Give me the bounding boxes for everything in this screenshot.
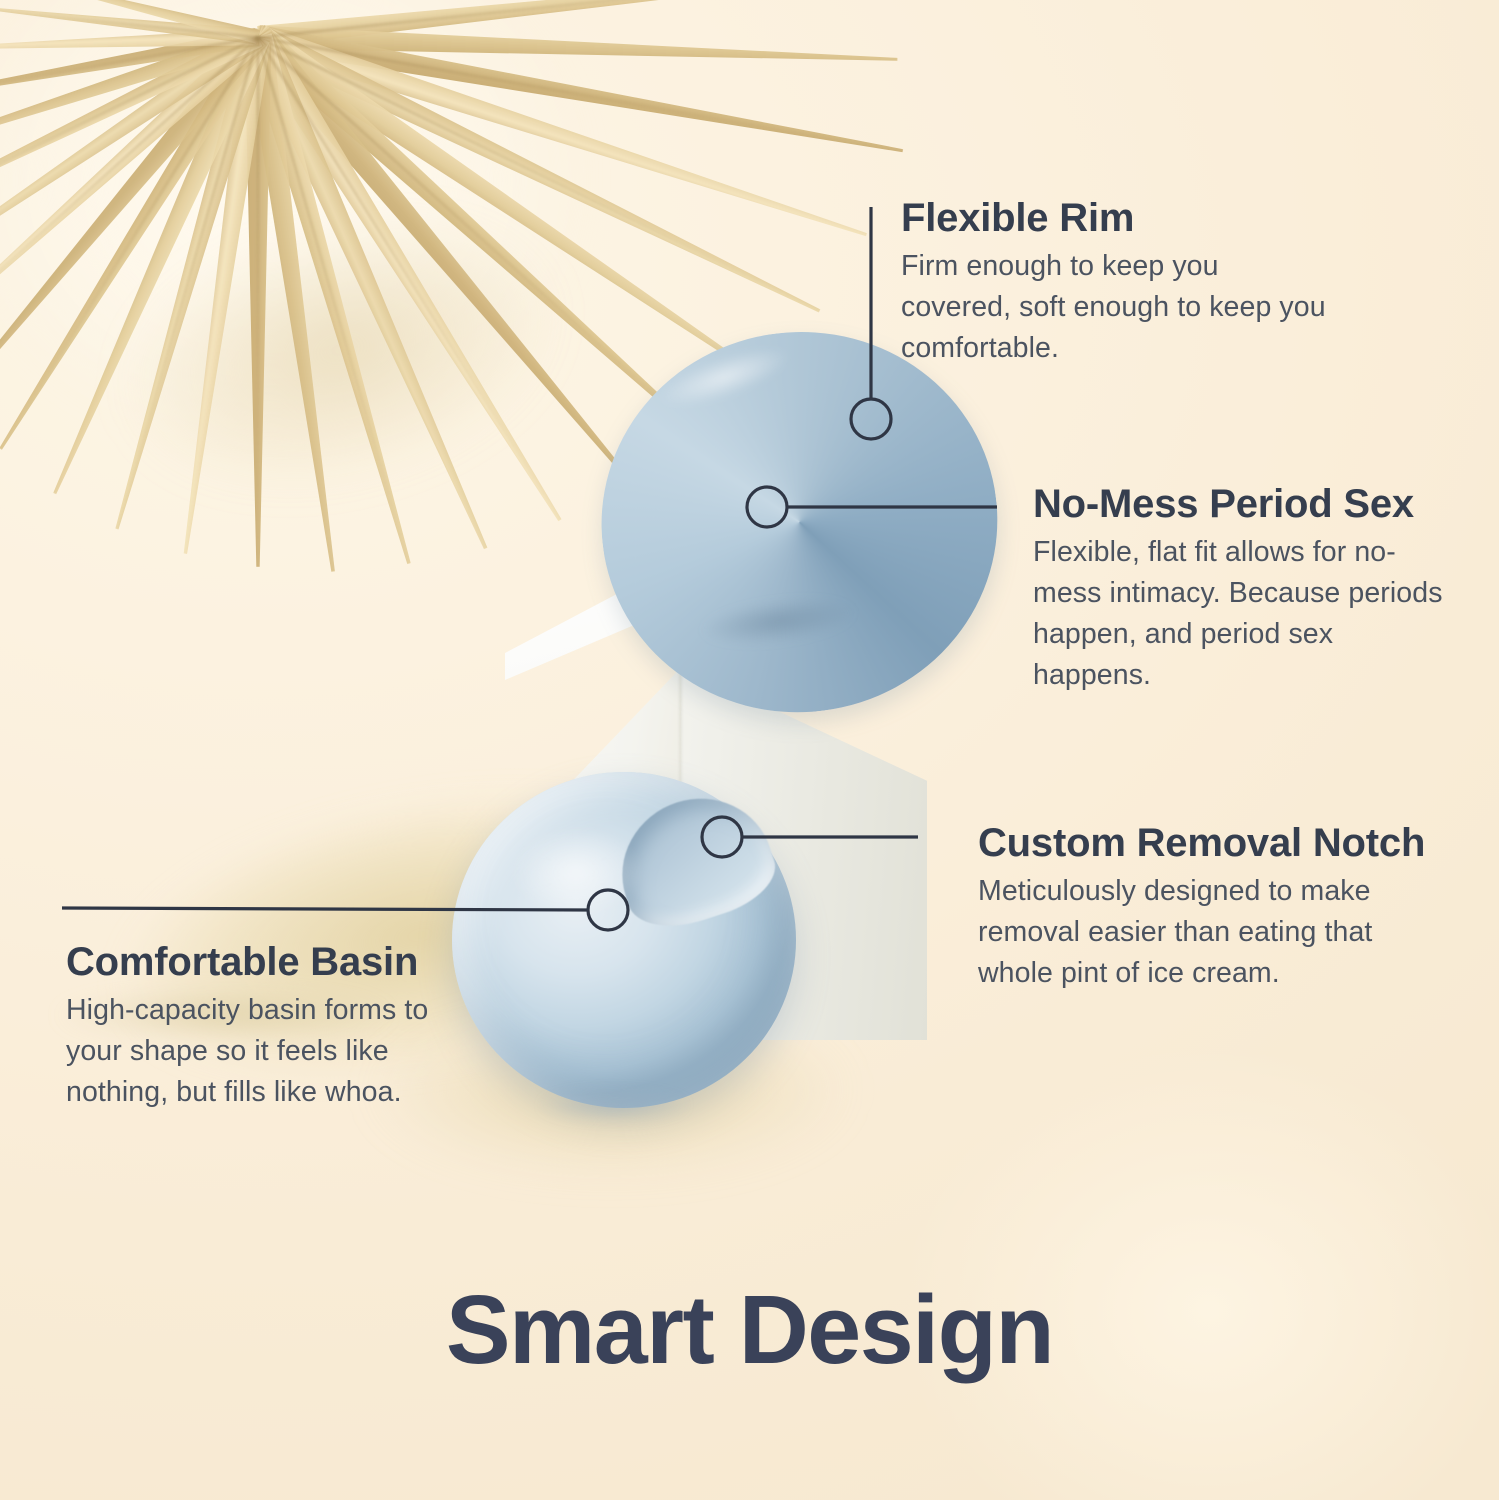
disc-contact-shadow	[514, 1084, 714, 1126]
palm-blade	[255, 18, 907, 169]
callout-body: High-capacity basin forms to your shape …	[66, 990, 466, 1113]
page-title: Smart Design	[0, 1281, 1499, 1378]
palm-blade-crease	[257, 36, 792, 299]
palm-blade-crease	[0, 36, 259, 326]
palm-blade-crease	[0, 36, 259, 209]
palm-blade	[0, 0, 259, 49]
palm-blade-crease	[12, 36, 259, 429]
callout-heading: Custom Removal Notch	[978, 822, 1448, 865]
callout-flexible-rim: Flexible Rim Firm enough to keep you cov…	[901, 197, 1331, 369]
callout-comfortable-basin: Comfortable Basin High-capacity basin fo…	[66, 941, 466, 1113]
palm-blade	[246, 19, 776, 397]
callout-heading: Flexible Rim	[901, 197, 1331, 240]
palm-blade	[98, 31, 278, 534]
disc-flexible-rim	[580, 309, 1019, 734]
palm-blade	[237, 31, 430, 570]
palm-blade-crease	[258, 36, 871, 147]
palm-blade	[36, 29, 276, 502]
palm-blade-crease	[258, 0, 882, 38]
palm-blade	[238, 25, 579, 533]
palm-blade-crease	[0, 36, 258, 97]
palm-blade	[252, 18, 873, 254]
palm-blade	[237, 28, 507, 558]
palm-blade	[0, 27, 274, 459]
callout-no-mess-period-sex: No-Mess Period Sex Flexible, flat fit al…	[1033, 483, 1453, 696]
callout-body: Firm enough to keep you covered, soft en…	[901, 246, 1331, 369]
palm-blade-crease	[122, 37, 259, 505]
palm-blade	[237, 37, 279, 567]
palm-blade	[0, 23, 263, 170]
menstrual-disc-rim-view	[580, 317, 952, 676]
palm-leaf-shadow	[0, 100, 684, 599]
palm-blade	[0, 24, 270, 353]
menstrual-disc-basin-view	[452, 772, 796, 1108]
palm-blade-crease	[0, 7, 258, 38]
palm-blade	[13, 0, 261, 48]
palm-blade	[165, 34, 279, 557]
palm-blade	[0, 23, 268, 293]
palm-blade	[257, 19, 898, 77]
palm-blade	[0, 24, 258, 61]
disc-sheen	[486, 812, 666, 932]
callout-heading: No-Mess Period Sex	[1033, 483, 1453, 526]
palm-blade	[0, 23, 265, 231]
callout-body: Flexible, flat fit allows for no-mess in…	[1033, 532, 1453, 696]
callout-body: Meticulously designed to make removal ea…	[978, 871, 1448, 994]
palm-blade	[0, 25, 273, 409]
callout-custom-removal-notch: Custom Removal Notch Meticulously design…	[978, 822, 1448, 994]
palm-blade-crease	[257, 36, 546, 497]
palm-blade	[256, 0, 916, 54]
callout-heading: Comfortable Basin	[66, 941, 466, 984]
infographic-canvas: Flexible Rim Firm enough to keep you cov…	[0, 0, 1499, 1500]
palm-blade	[0, 23, 260, 112]
palm-blade-crease	[257, 37, 260, 541]
palm-blade	[236, 34, 355, 575]
palm-blade-crease	[257, 37, 403, 538]
palm-blade	[249, 18, 829, 330]
